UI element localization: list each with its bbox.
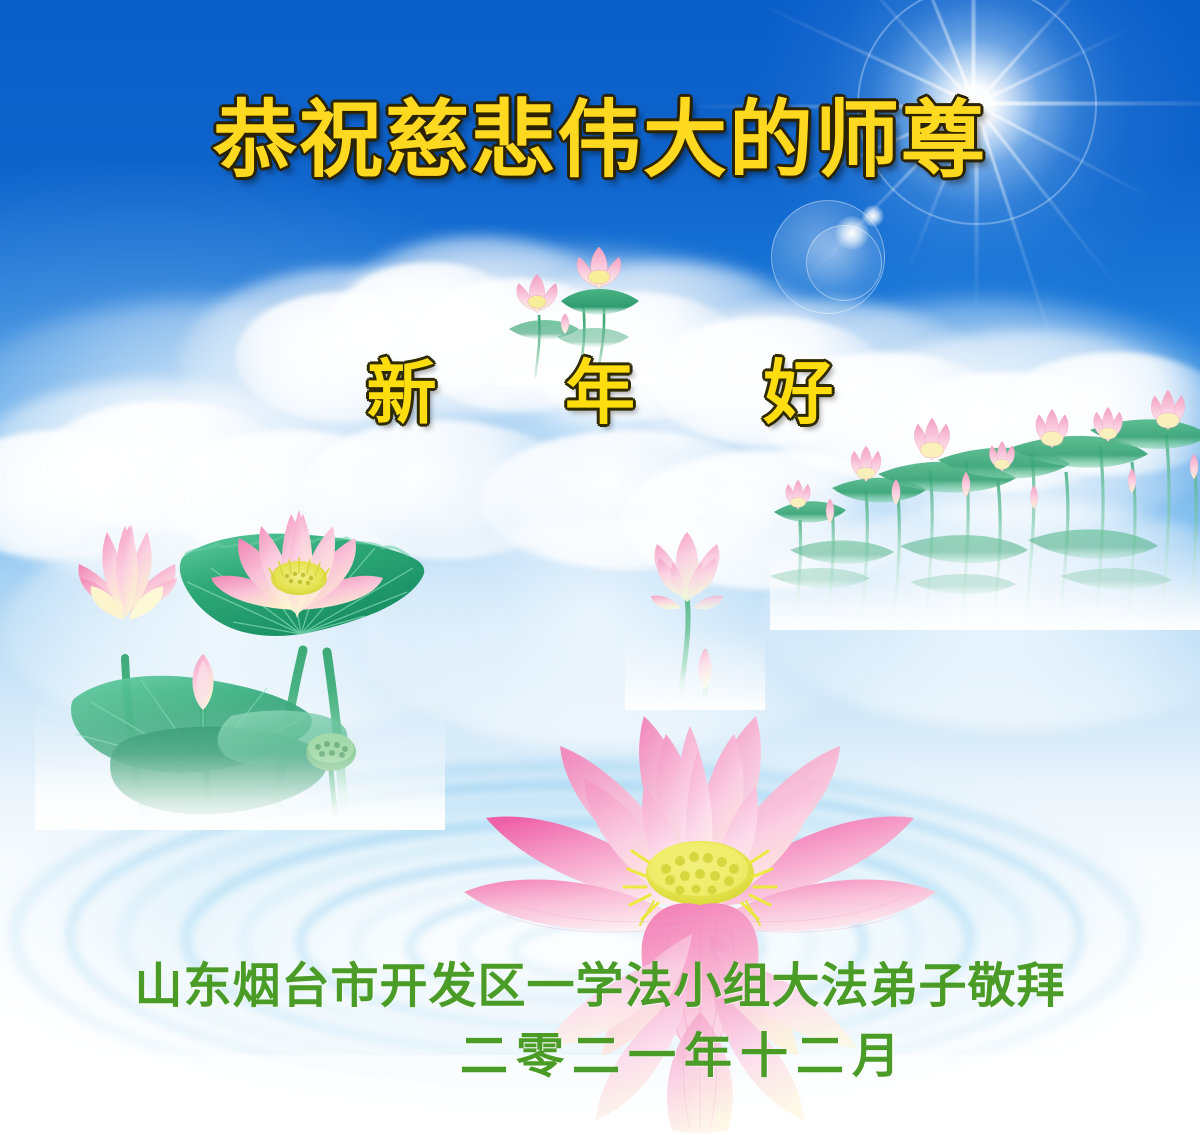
lotus-field-right [770, 400, 1200, 630]
lotus-center-single [625, 520, 765, 710]
flare-dot-b [862, 205, 884, 227]
date-line: 二零二一年十二月 [0, 1032, 1200, 1080]
signature-line: 山东烟台市开发区一学法小组大法弟子敬拜 [0, 962, 1200, 1010]
subtitle-new-year-greeting: 新 年 好 [0, 358, 1200, 428]
greeting-card: 恭祝慈悲伟大的师尊 新 年 好 山东烟台市开发区一学法小组大法弟子敬拜 二零二一… [0, 0, 1200, 1135]
page-title: 恭祝慈悲伟大的师尊 [0, 98, 1200, 182]
lotus-plant-left [35, 440, 445, 830]
